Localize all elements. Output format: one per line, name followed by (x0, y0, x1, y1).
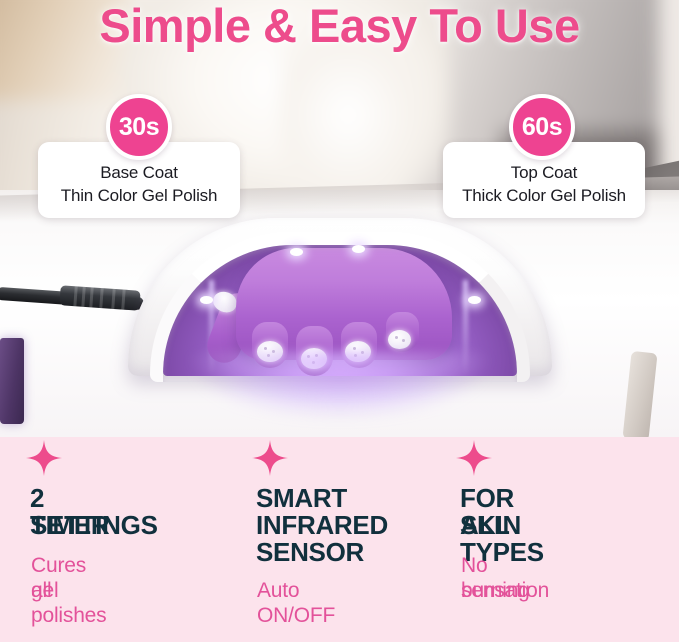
badge-line-2: Thin Color Gel Polish (44, 184, 234, 207)
feature-title-line-1: SMART (256, 485, 347, 512)
feature-title-line-2: INFRARED (256, 512, 388, 539)
uv-floor-glow (150, 352, 530, 437)
feature-sub-line-2: sensation (461, 578, 549, 603)
badge-line-1: Base Coat (44, 161, 234, 184)
led-light (200, 296, 213, 304)
product-infographic: Simple & Easy To Use Base Coat Thin Colo… (0, 0, 679, 642)
feature-sub-line-2: gel polishes (31, 578, 106, 628)
feature-title-line-3: SENSOR (256, 539, 364, 566)
badge-line-2: Thick Color Gel Polish (449, 184, 639, 207)
led-light (352, 245, 365, 253)
sparkle-star-icon (26, 440, 62, 476)
feature-title-line-2: SETTINGS (30, 512, 158, 539)
product-photo: Simple & Easy To Use Base Coat Thin Colo… (0, 0, 679, 437)
sparkle-star-icon (456, 440, 492, 476)
gel-polish-bottle (0, 338, 24, 424)
badge-line-1: Top Coat (449, 161, 639, 184)
sparkle-star-icon (252, 440, 288, 476)
features-section: 2 TIMER SETTINGS Cures all gel polishes … (0, 437, 679, 642)
feature-sub-line-1: Auto ON/OFF (257, 578, 335, 628)
badge-time-60s: 60s (509, 94, 575, 160)
badge-time-30s: 30s (106, 94, 172, 160)
led-light (468, 296, 481, 304)
page-title: Simple & Easy To Use (0, 0, 679, 53)
led-light (290, 248, 303, 256)
